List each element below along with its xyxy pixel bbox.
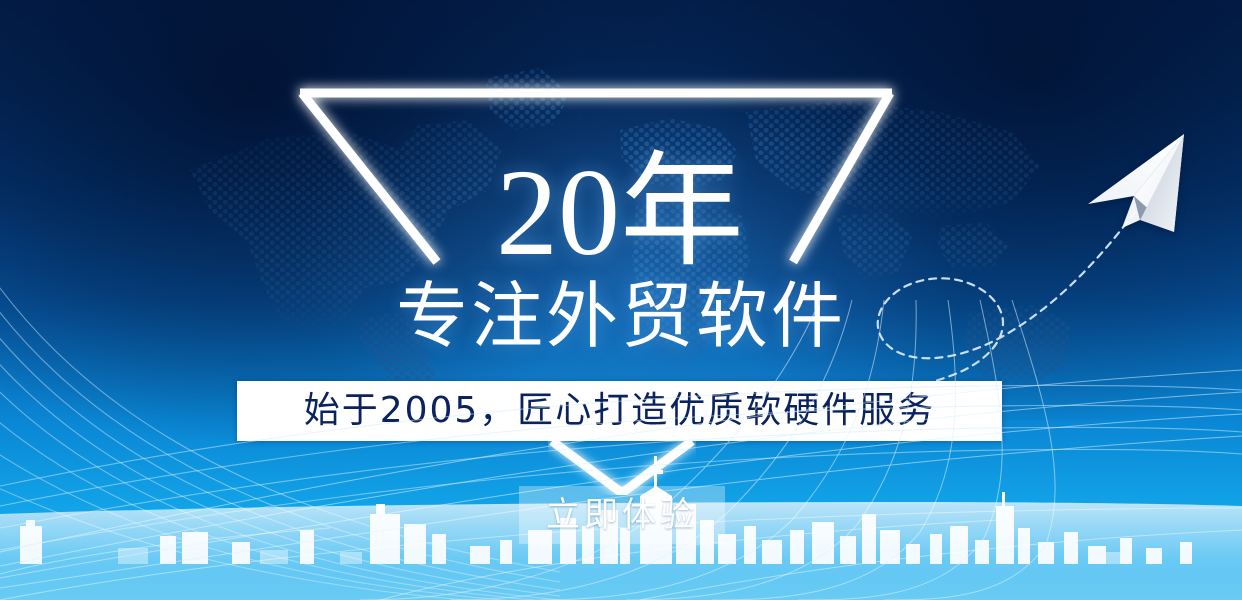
- corner-vignette-top-left: [0, 0, 700, 440]
- corner-vignette-top-right: [582, 0, 1242, 420]
- cta-button[interactable]: 立即体验: [519, 486, 725, 544]
- hero-banner: 20年 专注外贸软件 始于2005，匠心打: [0, 0, 1242, 600]
- paper-plane-icon: [1078, 128, 1240, 256]
- light-streak-lines: [0, 300, 1242, 600]
- headline-number: 20: [496, 144, 620, 281]
- dotted-world-map: [150, 20, 1150, 440]
- subtitle-bar: 始于2005，匠心打造优质软硬件服务: [237, 381, 1002, 441]
- subtitle-text: 始于2005，匠心打造优质软硬件服务: [304, 393, 936, 429]
- headline-years: 20年: [0, 150, 1242, 275]
- cta-label: 立即体验: [546, 498, 698, 532]
- dashed-flight-trail: [850, 210, 1150, 410]
- headline-tagline: 专注外贸软件: [0, 280, 1242, 352]
- headline-unit: 年: [620, 140, 746, 284]
